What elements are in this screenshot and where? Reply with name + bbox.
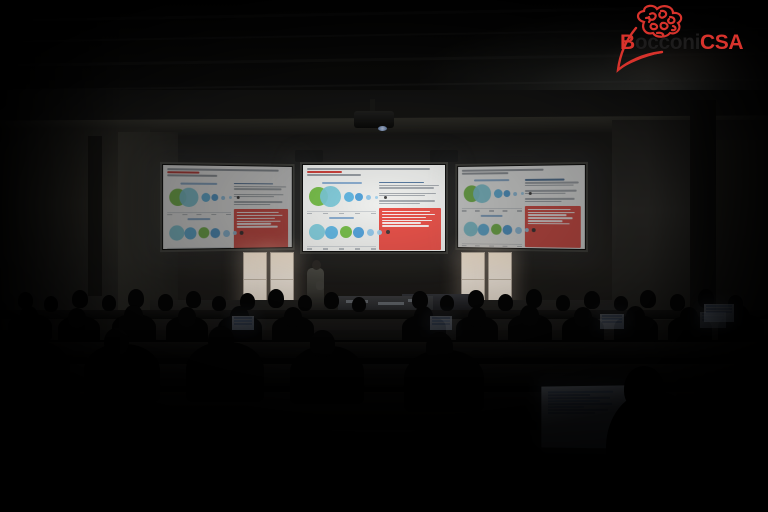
audience <box>0 280 768 512</box>
audience-head <box>20 306 38 326</box>
laptop-screen[interactable] <box>600 314 624 329</box>
audience-head <box>178 307 196 327</box>
audience-head <box>626 306 645 327</box>
audience-torso <box>160 432 360 512</box>
screen-frame <box>160 162 295 252</box>
watermark-brand-initial: B <box>620 31 635 54</box>
audience-torso <box>0 340 70 400</box>
audience-head <box>212 296 226 311</box>
watermark-text: BocconiCSA <box>620 32 743 53</box>
speaker-head <box>312 260 321 270</box>
bench-row <box>0 310 768 319</box>
audience-head <box>614 296 628 311</box>
audience-head <box>44 296 58 312</box>
projector-mount-right <box>430 150 458 162</box>
audience-head <box>426 332 453 361</box>
watermark-brand-suffix: CSA <box>700 31 743 54</box>
audience-head <box>298 295 312 311</box>
screen-frame <box>455 162 588 252</box>
audience-head <box>158 294 173 311</box>
audience-head <box>310 330 335 357</box>
audience-head <box>352 297 366 312</box>
audience-head <box>324 292 339 309</box>
audience-head <box>104 328 129 355</box>
screen-frame <box>300 162 448 254</box>
laptop-screen[interactable] <box>232 316 254 330</box>
audience-head <box>468 290 484 308</box>
audience-torso <box>700 400 768 512</box>
watermark-brand-word: occoni <box>635 31 700 54</box>
left-pillar <box>88 136 102 296</box>
audience-head <box>574 307 592 327</box>
projector-lens-icon <box>378 126 387 131</box>
audience-head <box>124 305 143 326</box>
laptop-screen[interactable] <box>704 304 734 322</box>
audience-head <box>186 291 201 308</box>
bocconicsa-watermark: BocconiCSA <box>602 4 768 70</box>
audience-head <box>72 290 88 308</box>
projector-icon <box>354 111 394 128</box>
audience-head <box>68 308 86 328</box>
audience-head <box>680 307 698 327</box>
audience-head <box>102 295 116 311</box>
audience-head <box>520 305 539 326</box>
audience-head <box>268 289 284 308</box>
audience-torso <box>606 392 702 512</box>
projection-screen-left[interactable] <box>160 162 295 252</box>
audience-head <box>584 291 600 309</box>
audience-torso <box>0 408 150 512</box>
projection-screen-center[interactable] <box>300 162 448 254</box>
audience-head <box>640 290 656 308</box>
audience-head <box>284 307 302 327</box>
audience-head <box>440 295 454 311</box>
lecture-hall-photo: BocconiCSA <box>0 0 768 512</box>
projection-screen-right[interactable] <box>455 162 588 252</box>
audience-head <box>208 326 234 354</box>
audience-torso <box>370 426 550 512</box>
audience-head <box>12 324 38 352</box>
audience-head <box>624 366 664 410</box>
projector-mount-left <box>295 150 323 162</box>
laptop-screen[interactable] <box>430 316 452 330</box>
audience-head <box>556 295 570 311</box>
audience-head <box>468 307 486 327</box>
audience-head <box>498 294 513 311</box>
